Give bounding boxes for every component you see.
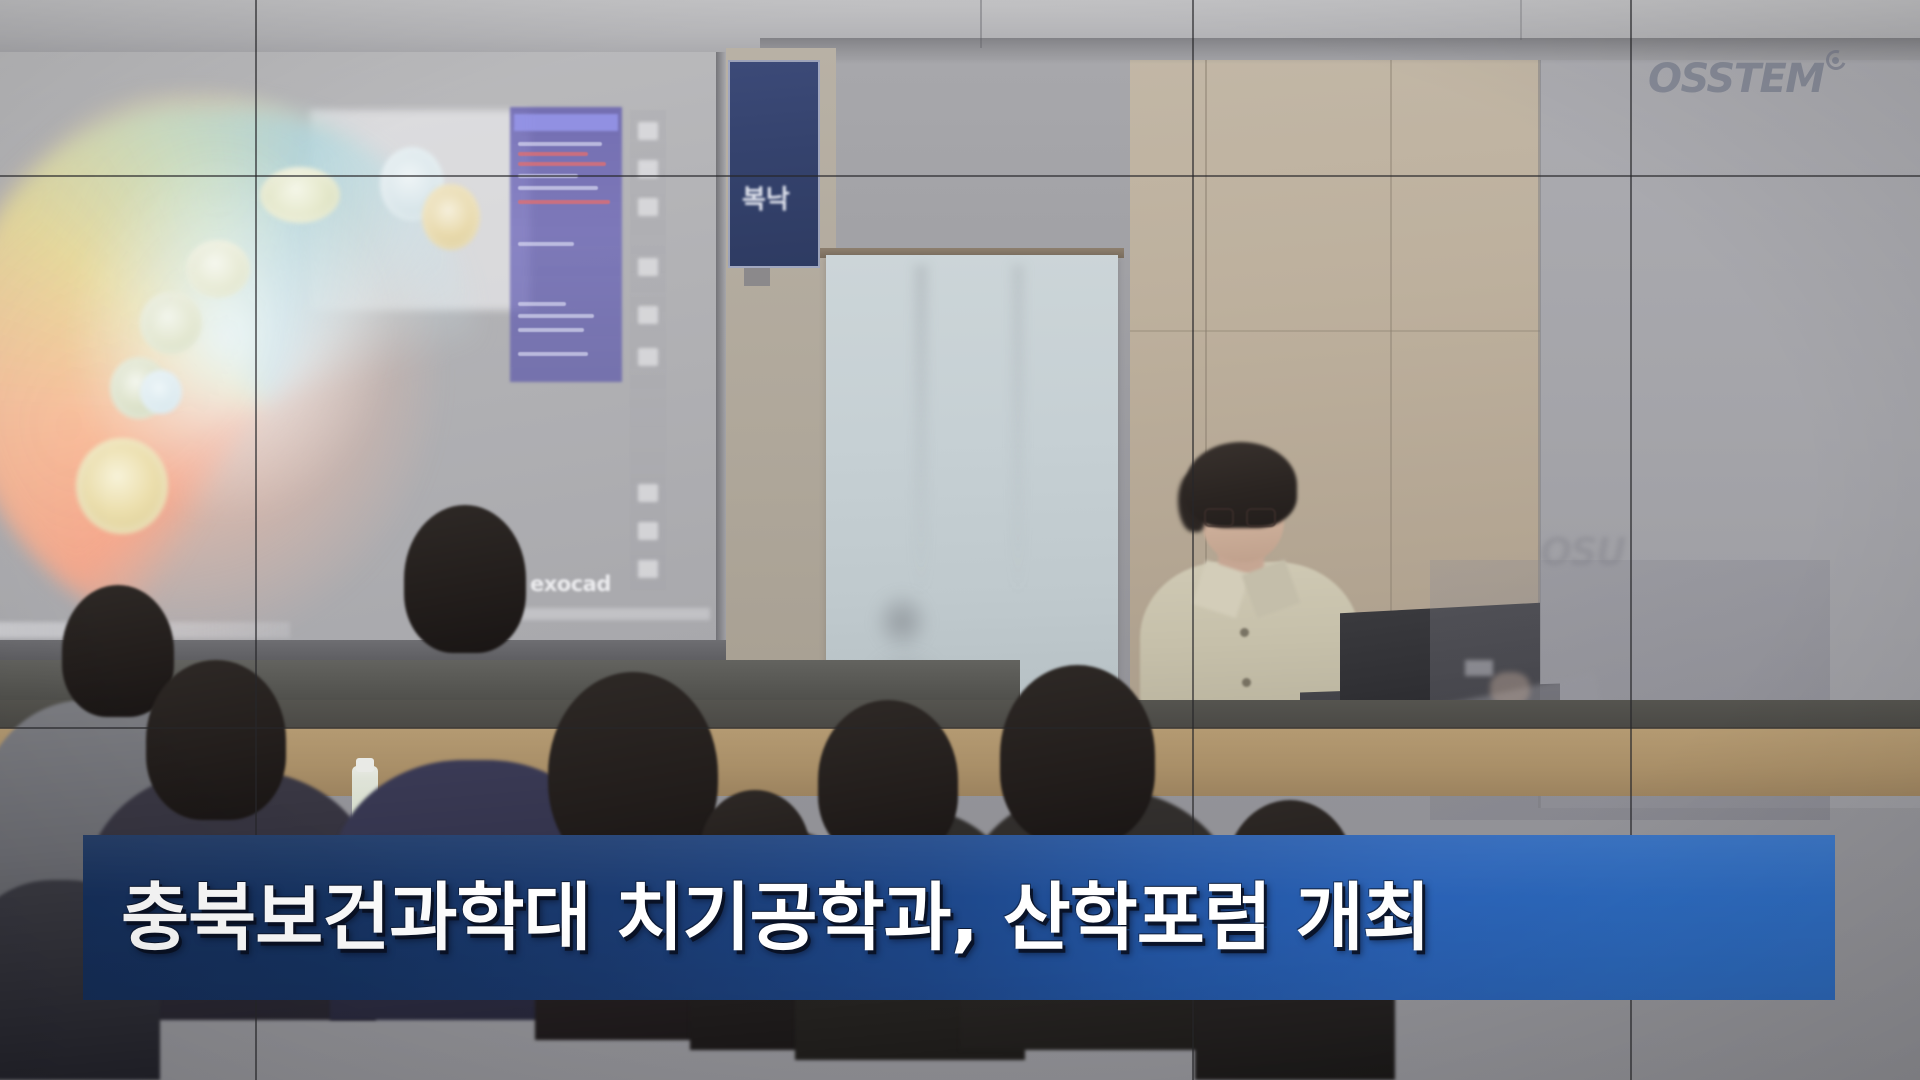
cad-panel-line — [518, 142, 602, 146]
audience-head — [146, 660, 286, 820]
broadcast-still: exocad 복낙 — [0, 0, 1920, 1080]
navy-poster-banner: 복낙 — [728, 60, 820, 268]
tooth-prep — [186, 240, 250, 298]
cad-panel-line-alert — [518, 162, 606, 166]
cad-panel-line-alert — [518, 152, 588, 156]
tooth-prep — [140, 292, 202, 354]
whiteboard — [826, 255, 1118, 710]
shirt-button — [1240, 628, 1249, 637]
osstem-wordmark: OSSTEM — [1648, 56, 1824, 102]
swirl-logo-dot-icon — [1832, 57, 1839, 64]
grid-line-horizontal — [0, 727, 1920, 729]
eyeglass-lens — [1246, 508, 1276, 527]
caption-headline: 충북보건과학대 치기공학과, 산학포럼 개최 — [121, 853, 1815, 983]
audience-head — [1000, 665, 1155, 845]
toolbar-icon — [638, 198, 658, 216]
osstem-watermark: OSSTEM — [1648, 48, 1848, 104]
cad-panel-line — [518, 302, 566, 306]
cad-selected-row — [514, 114, 618, 131]
cad-panel-line — [518, 314, 594, 318]
grid-line-horizontal — [0, 175, 1920, 177]
bottle-cap — [356, 758, 374, 772]
whiteboard-streak — [914, 265, 928, 595]
screen-edge — [716, 52, 726, 652]
cad-panel-line — [518, 352, 588, 356]
tooth-prep — [140, 370, 182, 414]
ceiling-tile-seam — [1520, 0, 1522, 40]
eyeglasses-icon — [1204, 508, 1282, 528]
projection-screen: exocad — [0, 52, 730, 652]
cad-panel-line — [518, 186, 598, 190]
toolbar-icon — [638, 522, 658, 540]
poster-stand — [744, 268, 770, 286]
whiteboard-streak — [1012, 265, 1024, 595]
toolbar-icon — [638, 484, 658, 502]
toolbar-icon — [638, 258, 658, 276]
cad-panel-line — [518, 242, 574, 246]
tooth-prep — [422, 184, 480, 250]
tooth-prep — [76, 438, 168, 534]
cad-panel-line — [518, 328, 584, 332]
projected-dental-scan: exocad — [0, 52, 730, 652]
toolbar-icon — [638, 306, 658, 324]
toolbar-icon — [638, 122, 658, 140]
toolbar-icon — [638, 348, 658, 366]
audience-head — [404, 505, 526, 653]
reflected-logo-text: OSU — [1540, 530, 1660, 574]
poster-text: 복낙 — [742, 187, 810, 213]
eyeglass-lens — [1204, 508, 1234, 527]
shirt-button — [1242, 678, 1251, 687]
exocad-logo: exocad — [530, 572, 660, 596]
cad-panel-line-alert — [518, 200, 610, 204]
caption-banner: 충북보건과학대 치기공학과, 산학포럼 개최 — [83, 835, 1835, 1000]
